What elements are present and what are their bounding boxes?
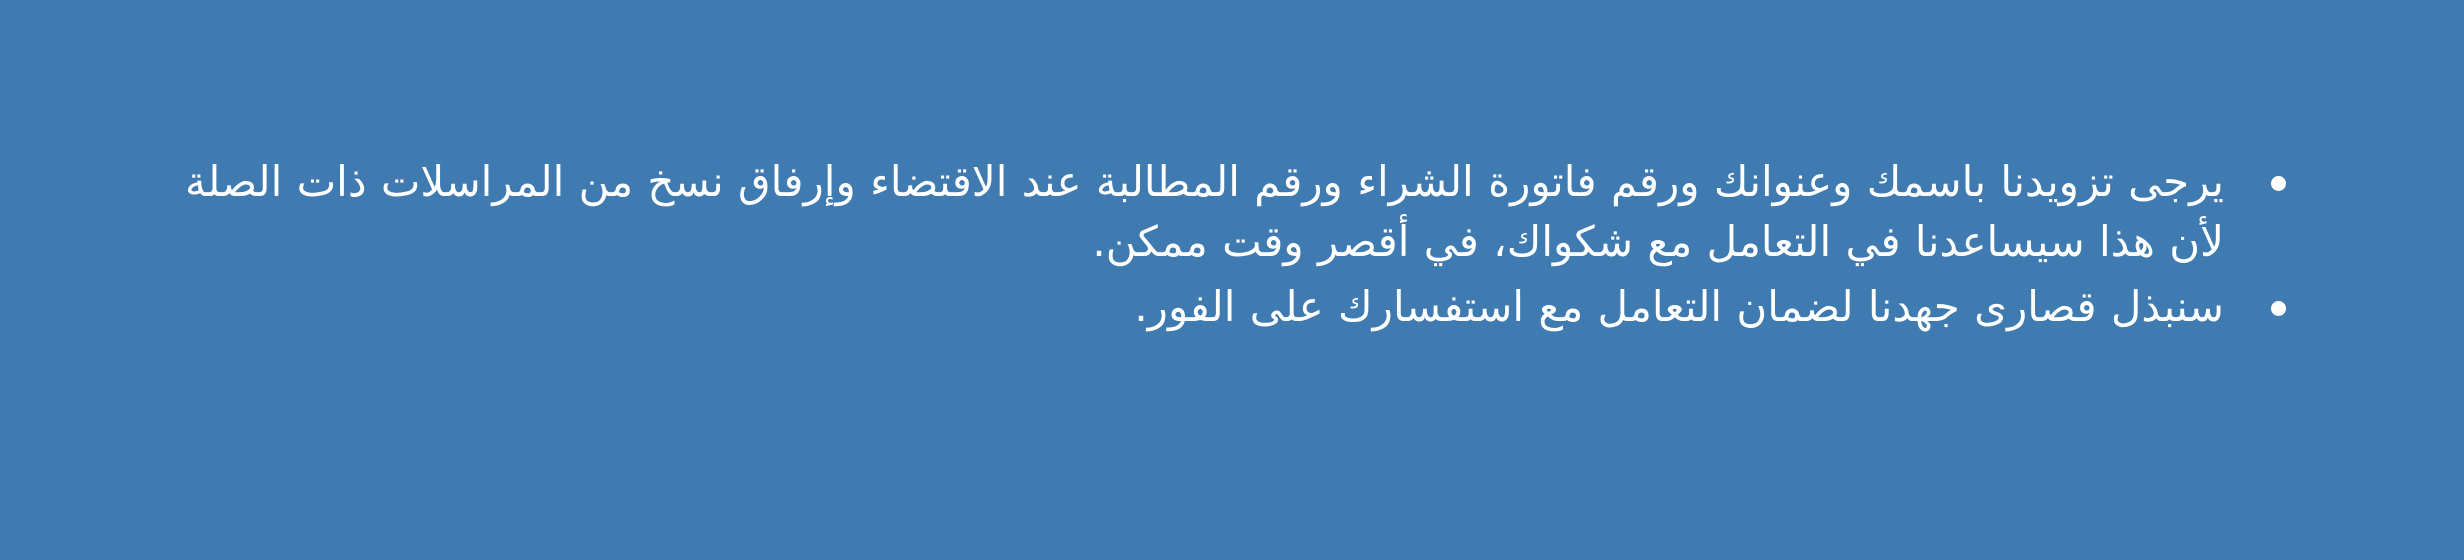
bullet-point-icon — [2271, 176, 2286, 191]
bullet-point-icon — [2271, 301, 2286, 316]
list-item-text: سنبذل قصارى جهدنا لضمان التعامل مع استفس… — [160, 277, 2224, 337]
list-item-text: يرجى تزويدنا باسمك وعنوانك ورقم فاتورة ا… — [160, 152, 2224, 271]
bullet-list: يرجى تزويدنا باسمك وعنوانك ورقم فاتورة ا… — [160, 152, 2290, 337]
list-item: يرجى تزويدنا باسمك وعنوانك ورقم فاتورة ا… — [160, 152, 2290, 271]
list-item: سنبذل قصارى جهدنا لضمان التعامل مع استفس… — [160, 277, 2290, 337]
slide-canvas: يرجى تزويدنا باسمك وعنوانك ورقم فاتورة ا… — [0, 0, 2464, 560]
